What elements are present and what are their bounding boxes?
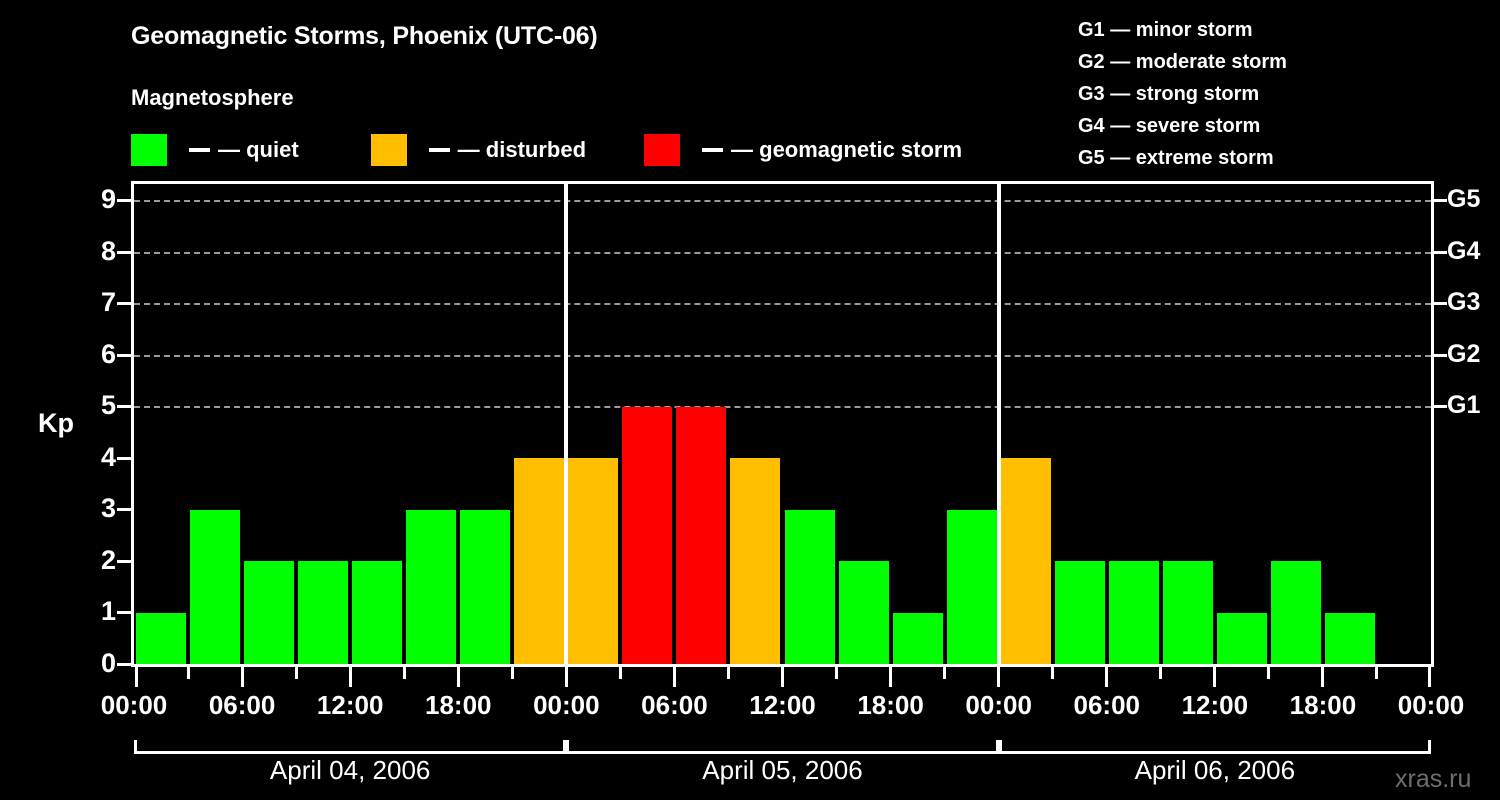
quiet-swatch-icon [131, 134, 167, 166]
bar [244, 561, 294, 664]
x-tick-label: 12:00 [749, 690, 816, 721]
plot-inner [134, 184, 1431, 664]
bar [190, 510, 240, 665]
x-tick-label: 00:00 [101, 690, 168, 721]
color-legend: — quiet — disturbed — geomagnetic storm [131, 133, 962, 167]
x-tick-major [565, 667, 568, 687]
bar [1271, 561, 1321, 664]
plot-area [131, 181, 1434, 667]
x-tick-label: 18:00 [425, 690, 492, 721]
y-tick-label-7: 7 [90, 289, 116, 316]
x-tick-major [781, 667, 784, 687]
g-scale-row-g5: G5 — extreme storm [1078, 142, 1408, 174]
magnetosphere-section-label: Magnetosphere [131, 85, 294, 111]
x-tick-major [1105, 667, 1108, 687]
bar [460, 510, 510, 665]
x-tick-minor [1051, 667, 1054, 679]
disturbed-swatch-icon [371, 134, 407, 166]
x-tick-minor [295, 667, 298, 679]
x-tick-major [1213, 667, 1216, 687]
bar [352, 561, 402, 664]
day-label: April 04, 2006 [270, 755, 430, 786]
page-title: Geomagnetic Storms, Phoenix (UTC-06) [131, 22, 598, 51]
x-tick-minor [511, 667, 514, 679]
x-axis-tick-labels: 00:0006:0012:0018:0000:0006:0012:0018:00… [0, 690, 1500, 724]
g-tick-mark-g1 [1434, 405, 1447, 408]
x-tick-major [1321, 667, 1324, 687]
g-tick-mark-g5 [1434, 199, 1447, 202]
x-tick-label: 12:00 [1182, 690, 1249, 721]
g-tick-label-g2: G2 [1447, 342, 1480, 367]
bars-layer [134, 184, 1431, 664]
y-tick-mark-5 [117, 405, 131, 408]
g-tick-label-g3: G3 [1447, 290, 1480, 315]
g-scale-row-g3: G3 — strong storm [1078, 78, 1408, 110]
bar [406, 510, 456, 665]
y-tick-label-5: 5 [90, 392, 116, 419]
g-tick-label-g5: G5 [1447, 187, 1480, 212]
g-scale-row-g2: G2 — moderate storm [1078, 46, 1408, 78]
y-tick-mark-1 [117, 611, 131, 614]
x-tick-minor [835, 667, 838, 679]
y-tick-label-2: 2 [90, 547, 116, 574]
legend-entry-disturbed: — disturbed [371, 133, 586, 167]
legend-dash-icon [702, 148, 723, 152]
bar [839, 561, 889, 664]
legend-entry-storm: — geomagnetic storm [644, 133, 962, 167]
g-tick-label-g4: G4 [1447, 239, 1480, 264]
y-tick-label-3: 3 [90, 495, 116, 522]
y-tick-label-8: 8 [90, 238, 116, 265]
bar [1325, 613, 1375, 665]
x-tick-major [457, 667, 460, 687]
legend-dash-icon [189, 148, 210, 152]
day-labels: April 04, 2006April 05, 2006April 06, 20… [0, 755, 1500, 795]
watermark: xras.ru [1395, 765, 1471, 794]
x-tick-minor [943, 667, 946, 679]
day-bracket [566, 740, 998, 754]
bar [893, 613, 943, 665]
bar [1055, 561, 1105, 664]
g-axis-tick-labels: G1G2G3G4G5 [1447, 181, 1500, 667]
g-scale-row-g1: G1 — minor storm [1078, 14, 1408, 46]
y-tick-label-9: 9 [90, 186, 116, 213]
y-axis-title: Kp [38, 408, 74, 439]
g-scale-row-g4: G4 — severe storm [1078, 110, 1408, 142]
x-tick-major [135, 667, 138, 687]
bar [1217, 613, 1267, 665]
y-tick-mark-2 [117, 560, 131, 563]
x-tick-major [241, 667, 244, 687]
x-axis-ticks [131, 667, 1434, 689]
x-tick-minor [727, 667, 730, 679]
bar [730, 458, 780, 664]
day-label: April 06, 2006 [1135, 755, 1295, 786]
x-tick-label: 00:00 [1398, 690, 1465, 721]
day-bracket [134, 740, 566, 754]
storm-swatch-icon [644, 134, 680, 166]
x-tick-minor [619, 667, 622, 679]
y-tick-mark-3 [117, 508, 131, 511]
g-scale-legend: G1 — minor storm G2 — moderate storm G3 … [1078, 14, 1408, 174]
x-tick-major [889, 667, 892, 687]
x-tick-minor [1267, 667, 1270, 679]
bar [514, 458, 564, 664]
y-tick-label-0: 0 [90, 650, 116, 677]
bar [568, 458, 618, 664]
x-tick-label: 00:00 [533, 690, 600, 721]
bar [676, 407, 726, 665]
g-tick-mark-g3 [1434, 302, 1447, 305]
y-tick-label-4: 4 [90, 444, 116, 471]
x-tick-label: 00:00 [965, 690, 1032, 721]
y-tick-mark-6 [117, 354, 131, 357]
x-tick-label: 06:00 [209, 690, 276, 721]
bar [947, 510, 997, 665]
y-tick-mark-0 [117, 663, 131, 666]
x-tick-major [673, 667, 676, 687]
bar [622, 407, 672, 665]
x-tick-label: 18:00 [857, 690, 924, 721]
bar [1001, 458, 1051, 664]
y-axis-tick-labels: 0123456789 [88, 181, 116, 667]
x-tick-label: 06:00 [641, 690, 708, 721]
y-tick-mark-7 [117, 302, 131, 305]
day-separator [564, 184, 568, 664]
x-tick-major [997, 667, 1000, 687]
x-tick-label: 06:00 [1074, 690, 1141, 721]
x-tick-major [349, 667, 352, 687]
legend-label-storm: — geomagnetic storm [731, 137, 962, 163]
legend-label-quiet: — quiet [218, 137, 299, 163]
legend-label-disturbed: — disturbed [458, 137, 586, 163]
g-tick-mark-g4 [1434, 251, 1447, 254]
legend-entry-quiet: — quiet [131, 133, 299, 167]
g-tick-mark-g2 [1434, 354, 1447, 357]
bar [1163, 561, 1213, 664]
y-tick-label-1: 1 [90, 598, 116, 625]
day-brackets [131, 740, 1434, 756]
g-tick-label-g1: G1 [1447, 393, 1480, 418]
day-separator [997, 184, 1001, 664]
y-tick-mark-4 [117, 457, 131, 460]
bar [136, 613, 186, 665]
x-tick-minor [1375, 667, 1378, 679]
legend-dash-icon [429, 148, 450, 152]
day-label: April 05, 2006 [702, 755, 862, 786]
x-tick-minor [187, 667, 190, 679]
x-tick-label: 18:00 [1290, 690, 1357, 721]
y-tick-mark-9 [117, 199, 131, 202]
bar [1109, 561, 1159, 664]
bar [785, 510, 835, 665]
x-tick-minor [1159, 667, 1162, 679]
y-tick-mark-8 [117, 251, 131, 254]
x-tick-major [1428, 667, 1431, 687]
y-tick-label-6: 6 [90, 341, 116, 368]
x-tick-minor [403, 667, 406, 679]
x-tick-label: 12:00 [317, 690, 384, 721]
bar [298, 561, 348, 664]
day-bracket [999, 740, 1431, 754]
